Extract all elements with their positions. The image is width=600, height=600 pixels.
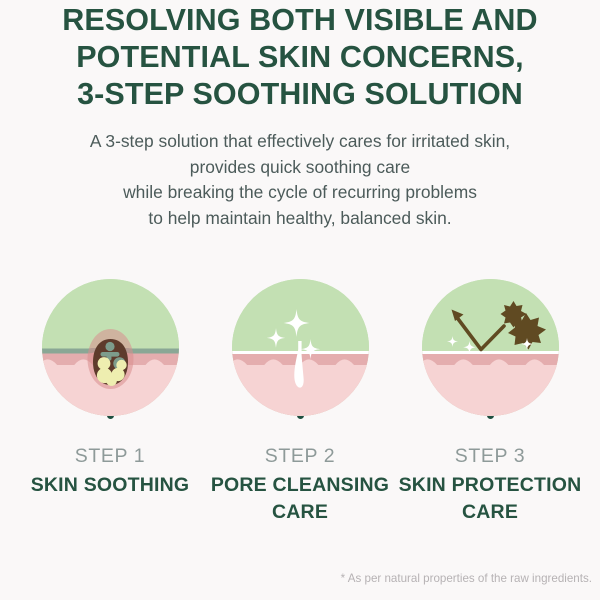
step-labels-row: STEP 1 SKIN SOOTHING STEP 2 PORE CLEANSI… (0, 443, 600, 526)
step-3-circle (422, 279, 559, 416)
step-1-circle-wrap (42, 279, 179, 416)
step-1-label: STEP 1 SKIN SOOTHING (15, 443, 205, 526)
description-line-2: provides quick soothing care (0, 155, 600, 181)
step-2-circle (232, 279, 369, 416)
page-title: RESOLVING BOTH VISIBLE AND POTENTIAL SKI… (0, 0, 600, 113)
protection-deflection-icon (422, 279, 559, 416)
step-2-number: STEP 2 (205, 443, 395, 469)
step-2-circle-wrap (232, 279, 369, 416)
step-illustrations-row (0, 279, 600, 419)
description-text: A 3-step solution that effectively cares… (0, 129, 600, 231)
step-3-label: STEP 3 SKIN PROTECTION CARE (395, 443, 585, 526)
clogged-pore-icon (42, 279, 179, 416)
step-2-illustration (205, 279, 395, 419)
step-1-number: STEP 1 (15, 443, 205, 469)
step-3-illustration (395, 279, 585, 419)
step-3-circle-wrap (422, 279, 559, 416)
description-line-1: A 3-step solution that effectively cares… (0, 129, 600, 155)
clean-pore-sparkle-icon (232, 279, 369, 416)
step-3-number: STEP 3 (395, 443, 585, 469)
step-3-title: SKIN PROTECTION CARE (395, 472, 585, 526)
step-1-circle (42, 279, 179, 416)
step-2-label: STEP 2 PORE CLEANSING CARE (205, 443, 395, 526)
description-line-3: while breaking the cycle of recurring pr… (0, 180, 600, 206)
page-title-line-3: 3-STEP SOOTHING SOLUTION (0, 76, 600, 113)
page-title-line-1: RESOLVING BOTH VISIBLE AND (0, 2, 600, 39)
description-line-4: to help maintain healthy, balanced skin. (0, 206, 600, 232)
step-2-title: PORE CLEANSING CARE (205, 472, 395, 526)
page-title-line-2: POTENTIAL SKIN CONCERNS, (0, 39, 600, 76)
step-1-illustration (15, 279, 205, 419)
footnote: * As per natural properties of the raw i… (0, 572, 600, 585)
step-1-title: SKIN SOOTHING (15, 472, 205, 499)
